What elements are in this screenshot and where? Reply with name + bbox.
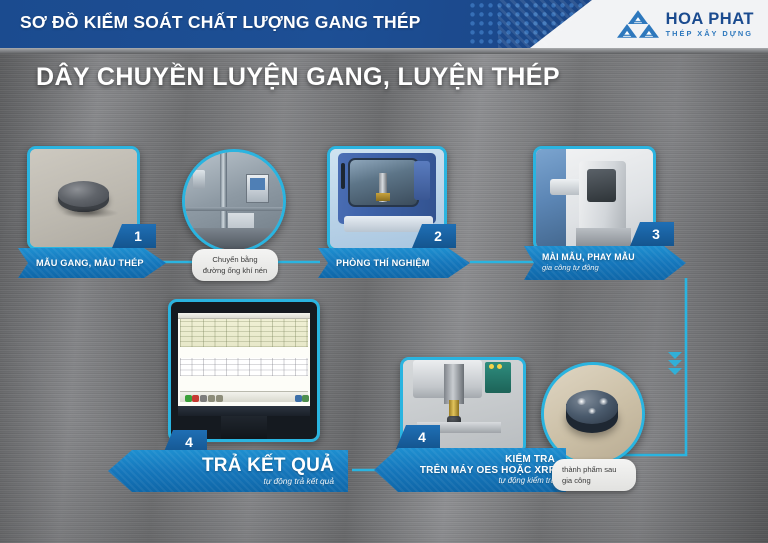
monitor-screen [178,313,309,406]
step-4-test-title-line1: KIỂM TRA [505,454,555,465]
brand-logo[interactable]: HOA PHAT THÉP XÂY DỰNG [617,7,754,41]
step-4-results-banner[interactable]: TRẢ KẾT QUẢ tự động trả kết quả [108,450,348,492]
spreadsheet-grid-upper [180,319,309,347]
note-line-1: Chuyển bằng [202,254,268,265]
step-4-results-title: TRẢ KẾT QUẢ [202,455,334,476]
app-menubar [178,313,309,319]
step-4-results-photo-card[interactable] [168,299,320,442]
status-led-icon [497,364,502,369]
test-machine-head [444,364,464,404]
os-taskbar [178,406,309,416]
logo-company-name: HOA PHAT [666,11,754,28]
section-title: DÂY CHUYỀN LUYỆN GANG, LUYỆN THÉP [36,63,560,92]
lab-side-panel [414,161,430,201]
save-icon [216,395,223,402]
chevron-down-icon [668,360,682,367]
monitor-stand [221,416,268,439]
status-led-icon [489,364,494,369]
lab-probe-tip [376,193,391,202]
header-decorative-hatch [498,0,592,48]
logo-wordmark: HOA PHAT THÉP XÂY DỰNG [666,11,754,37]
results-monitor-screen-photo [171,302,317,439]
pneumatic-pipe-plant-photo [185,152,283,250]
step-4-test-banner[interactable]: KIỂM TRA TRÊN MÁY OES HOẶC XRF tự động k… [374,448,566,492]
chevron-down-icon [668,352,682,359]
step-2-banner[interactable]: PHÒNG THÍ NGHIỆM [318,248,470,278]
step-3-banner[interactable]: MÀI MẪU, PHAY MẪU gia công tự động [524,246,686,280]
step-1-title: MẪU GANG, MẪU THÉP [36,258,166,268]
finished-product-note: thành phẩm sau gia công [552,459,636,491]
step-4-results-subtitle: tự động trả kết quả [264,477,335,487]
page-title: SƠ ĐỒ KIỂM SOÁT CHẤT LƯỢNG GANG THÉP [20,12,421,33]
note-line-1: thành phẩm sau [562,464,626,475]
pneumatic-transfer-note: Chuyển bằng đường ống khí nén [192,249,278,281]
step-4-test-subtitle: tự động kiểm tra [498,477,555,486]
lab-base-tray [344,216,433,232]
refresh-icon [302,395,309,402]
step-3-subtitle: gia công tự động [542,264,686,273]
sample-top [58,181,109,206]
mill-left-wall [536,149,566,248]
flow-direction-arrows [668,352,682,375]
step-4-test-title-line2: TRÊN MÁY OES HOẶC XRF [420,465,555,476]
mill-base [576,228,631,246]
lab-door-handle [341,163,346,189]
mill-window [587,169,615,203]
print-icon [208,395,215,402]
note-line-2: đường ống khí nén [202,265,268,276]
step-3-title: MÀI MẪU, PHAY MẪU [542,253,686,263]
note-line-2: gia công [562,475,626,486]
chevron-down-icon [668,368,682,375]
close-icon [192,395,199,402]
step-1-banner[interactable]: MẪU GANG, MẪU THÉP [18,248,166,278]
page-header: SƠ ĐỒ KIỂM SOÁT CHẤT LƯỢNG GANG THÉP HOA… [0,0,768,48]
check-icon [185,395,192,402]
test-machine-circuit-panel [485,362,511,393]
logo-tagline: THÉP XÂY DỰNG [666,30,754,37]
hoa-phat-triangle-logo-icon [617,9,659,39]
step-2-title: PHÒNG THÍ NGHIỆM [336,258,470,268]
floor [185,228,283,250]
sample-shadow [62,208,118,218]
side-equipment [193,170,205,190]
app-toolbar [180,391,309,402]
spreadsheet-grid-lower [180,358,309,377]
gear-icon [200,395,207,402]
panel-display [250,178,266,190]
pneumatic-transfer-photo-circle[interactable] [182,149,286,253]
horizontal-duct [185,207,283,211]
